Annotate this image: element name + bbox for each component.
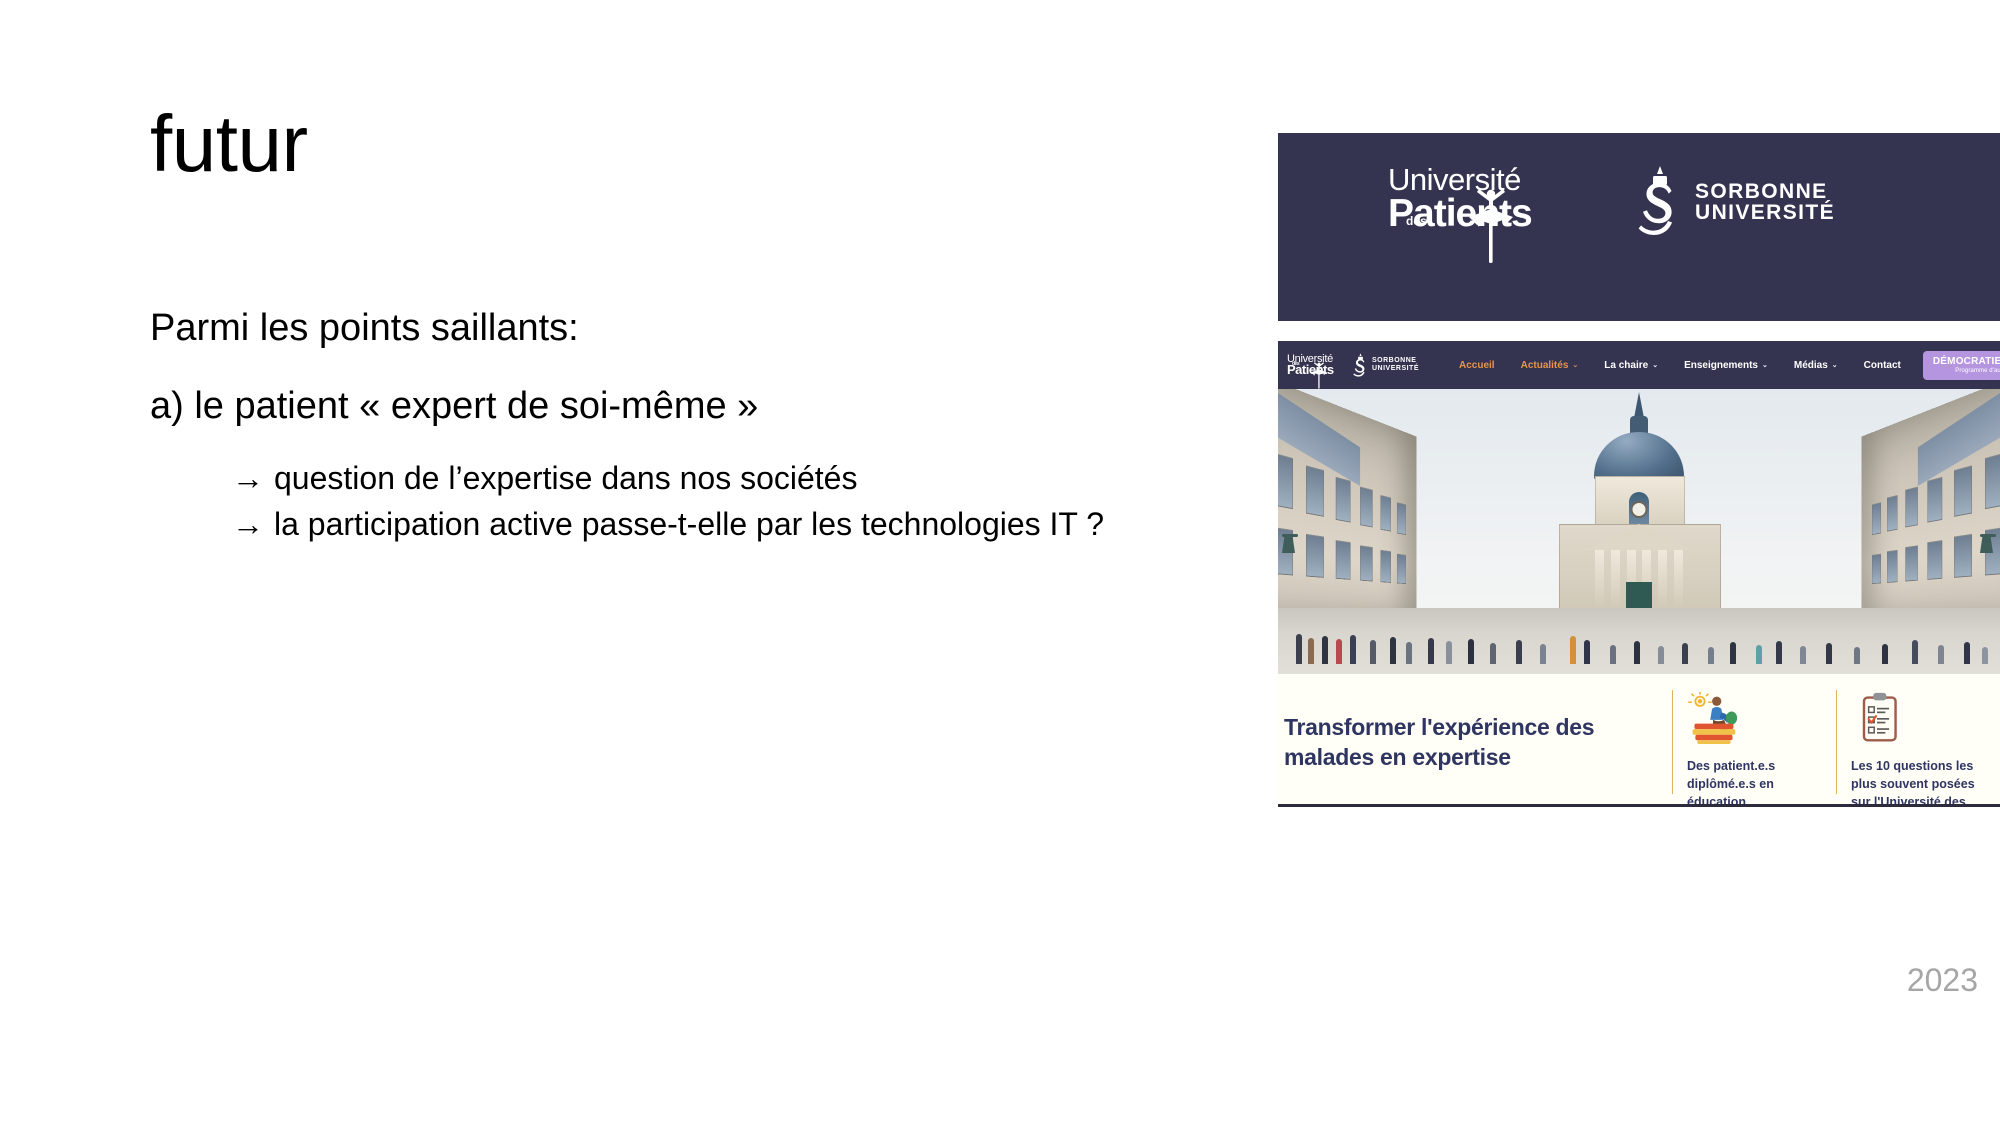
page-title: futur [150,104,308,184]
cta-main-label: DÉMOCRATIE EN SANTÉ [1933,356,2000,367]
sorbonne-universite-logo: SORBONNE UNIVERSITÉ [1638,165,1835,239]
image-stack: Université des Patients [1278,133,2000,807]
nav-item-medias[interactable]: Médias ⌄ [1794,360,1838,371]
nav-item-contact-label: Contact [1864,360,1901,371]
sorbonne-courtyard-photo [1278,389,2000,674]
body-line-2: a) le patient « expert de soi-même » [150,378,1270,436]
band-card-diplomes[interactable]: Des patient.e.s diplômé.e.s en éducation [1672,690,1836,794]
sub-bullet-1-label: question de l’expertise dans nos société… [274,460,857,496]
chevron-down-icon: ⌄ [1572,361,1578,369]
crowd-of-people [1278,622,2000,664]
universite-des-patients-logo: Université des Patients [1388,165,1594,232]
nav-item-accueil-label: Accueil [1459,360,1495,371]
nav-item-enseignements[interactable]: Enseignements ⌄ [1684,360,1768,371]
band-card-questions-text: Les 10 questions les plus souvent posées… [1851,757,1992,804]
su-logo-line2: UNIVERSITÉ [1695,202,1835,223]
arrow-right-icon: → [232,506,264,542]
person-on-books-icon [1687,692,1746,744]
street-lamp-icon [1282,534,1298,556]
band-card-questions[interactable]: Les 10 questions les plus souvent posées… [1836,690,2000,794]
street-lamp-icon [1980,534,1996,556]
chevron-down-icon: ⌄ [1762,361,1768,369]
navbar-su-line1: SORBONNE [1372,357,1419,365]
graduate-person-icon [1463,187,1519,265]
nav-item-actualites-label: Actualités [1521,360,1569,371]
democratie-en-sante-button[interactable]: DÉMOCRATIE EN SANTÉ Programme d'auto-for… [1923,351,2000,380]
body-line-1: Parmi les points saillants: [150,300,1270,358]
nav-item-enseignements-label: Enseignements [1684,360,1758,371]
band-heading-block: Transformer l'expérience des malades en … [1278,690,1672,794]
chapel-spire [1634,392,1644,418]
navbar-su-line2: UNIVERSITÉ [1372,365,1419,373]
site-content-band: Transformer l'expérience des malades en … [1278,674,2000,804]
website-screenshot: Université des Patients [1278,341,2000,807]
band-heading: Transformer l'expérience des malades en … [1284,712,1672,773]
graduate-person-icon [1309,361,1329,389]
sorbonne-chapel [1551,434,1727,622]
nav-item-la-chaire[interactable]: La chaire ⌄ [1604,360,1658,371]
chapel-clock-icon [1631,501,1648,518]
nav-item-accueil[interactable]: Accueil [1459,360,1495,371]
sub-bullet-2-label: la participation active passe-t-elle par… [274,506,1104,542]
chevron-down-icon: ⌄ [1652,361,1658,369]
su-logo-line1: SORBONNE [1695,181,1835,202]
navbar-sorbonne-logo[interactable]: SORBONNE UNIVERSITÉ [1353,353,1419,378]
chapel-dome [1594,432,1684,482]
arrow-right-icon: → [232,460,264,496]
chevron-down-icon: ⌄ [1832,361,1838,369]
cta-sub-label: Programme d'auto-formation [1933,368,2000,374]
nav-item-la-chaire-label: La chaire [1604,360,1648,371]
nav-item-contact[interactable]: Contact [1864,360,1901,371]
nav-item-medias-label: Médias [1794,360,1828,371]
sorbonne-s-icon [1353,353,1368,378]
navbar-menu: Accueil Actualités ⌄ La chaire ⌄ Enseign… [1459,360,1901,371]
udp-logo-des: des [1406,215,1427,227]
chapel-pediment [1587,524,1691,550]
navbar-udp-logo[interactable]: Université des Patients [1287,354,1343,377]
slide-body: Parmi les points saillants: a) le patien… [150,300,1270,548]
band-card-diplomes-text: Des patient.e.s diplômé.e.s en éducation [1687,757,1828,804]
navbar-logos[interactable]: Université des Patients [1287,353,1419,378]
sub-bullet-1: →question de l’expertise dans nos sociét… [232,456,1270,500]
year-stamp: 2023 [1907,962,1978,999]
clipboard-checklist-icon [1851,692,1910,744]
banner-site-gap [1278,321,2000,341]
logo-banner-image: Université des Patients [1278,133,2000,321]
site-navbar: Université des Patients [1278,341,2000,389]
sorbonne-s-icon [1638,165,1682,239]
nav-item-actualites[interactable]: Actualités ⌄ [1521,360,1579,371]
navbar-udp-des: des [1292,362,1299,367]
sub-bullet-2: →la participation active passe-t-elle pa… [232,502,1270,546]
